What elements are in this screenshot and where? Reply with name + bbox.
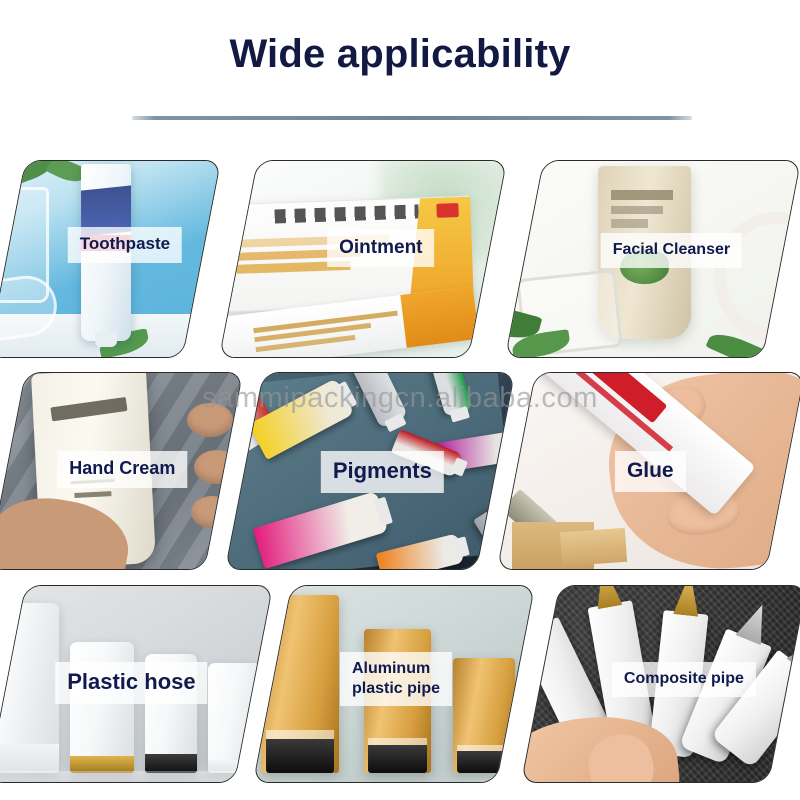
application-card-aluminum-plastic-pipe[interactable]: Aluminum plastic pipe xyxy=(253,585,535,783)
page-title: Wide applicability xyxy=(0,32,800,77)
card-label-ointment: Ointment xyxy=(327,229,434,267)
grid-row: Toothpaste Ointment xyxy=(0,160,800,360)
card-label-plastic-hose: Plastic hose xyxy=(55,662,207,704)
card-label-pigments: Pigments xyxy=(321,451,444,493)
card-label-toothpaste: Toothpaste xyxy=(68,227,182,263)
page-header: Wide applicability xyxy=(0,0,800,148)
card-label-composite-pipe: Composite pipe xyxy=(612,662,756,697)
application-card-toothpaste[interactable]: Toothpaste xyxy=(0,160,221,358)
card-label-aluminum-plastic-pipe: Aluminum plastic pipe xyxy=(340,652,452,706)
card-label-hand-cream: Hand Cream xyxy=(57,451,187,488)
applications-grid: Toothpaste Ointment xyxy=(0,148,800,800)
grid-row: Plastic hose Aluminum plastic pipe xyxy=(0,585,800,785)
application-card-hand-cream[interactable]: Hand Cream xyxy=(0,372,243,570)
title-divider xyxy=(132,116,692,120)
application-card-ointment[interactable]: Ointment xyxy=(219,160,507,358)
application-card-pigments[interactable]: Pigments xyxy=(225,372,515,570)
card-label-facial-cleanser: Facial Cleanser xyxy=(601,233,742,268)
application-card-facial-cleanser[interactable]: Facial Cleanser xyxy=(505,160,800,358)
card-label-glue: Glue xyxy=(615,451,686,492)
grid-row: Hand Cream Pigments xyxy=(0,372,800,572)
application-card-plastic-hose[interactable]: Plastic hose xyxy=(0,585,273,783)
application-card-composite-pipe[interactable]: Composite pipe xyxy=(521,585,800,783)
page-root: Wide applicability Toothpaste xyxy=(0,0,800,800)
application-card-glue[interactable]: Glue xyxy=(497,372,800,570)
